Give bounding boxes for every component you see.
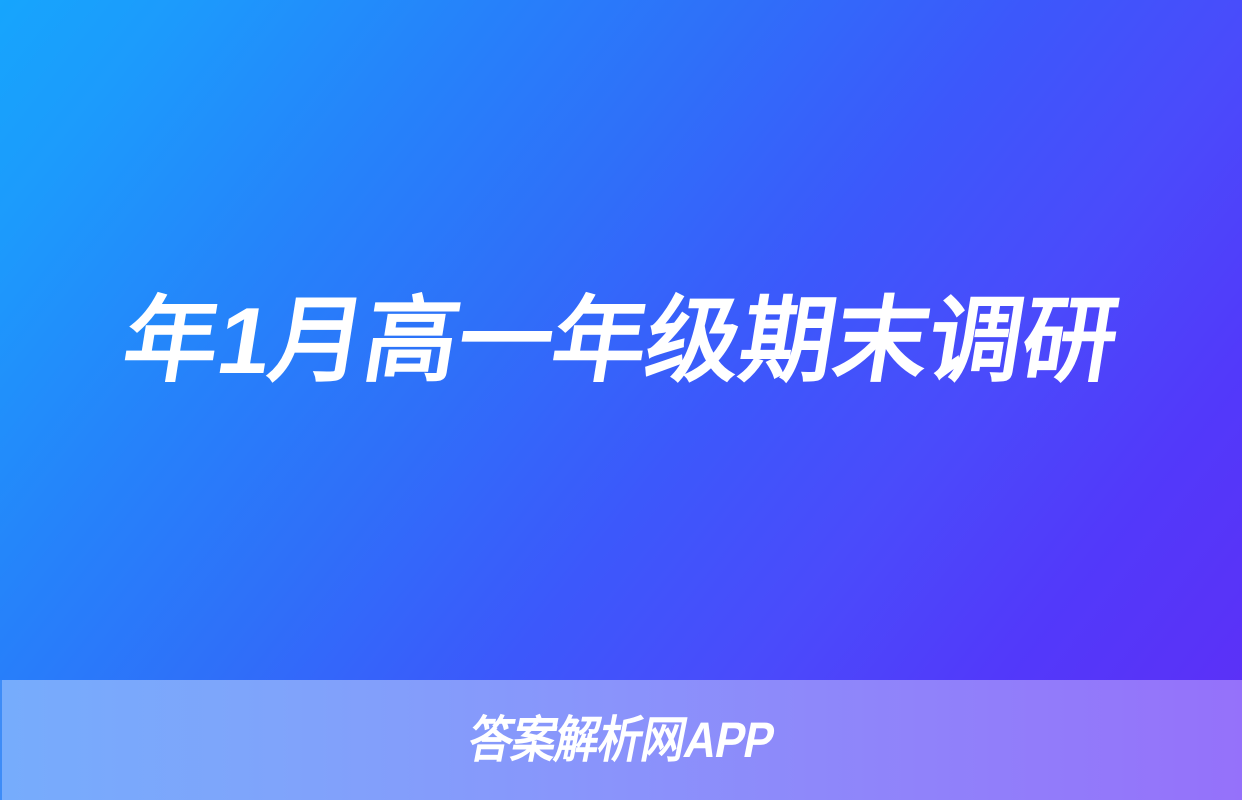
exam-title-line-2: 年1月高一年级期末调研 xyxy=(65,268,1178,413)
exam-cover-screen: 天一大联考 山西省2024 年1月高一年级期末调研 测试英语试题 答案解析网AP… xyxy=(0,0,1242,800)
band-left-edge-strip xyxy=(0,680,2,800)
hero-gradient-panel: 天一大联考 山西省2024 年1月高一年级期末调研 测试英语试题 xyxy=(0,0,1242,680)
watermark-band: 答案解析网APP xyxy=(0,680,1242,800)
watermark-brand-label: 答案解析网APP xyxy=(464,715,777,765)
